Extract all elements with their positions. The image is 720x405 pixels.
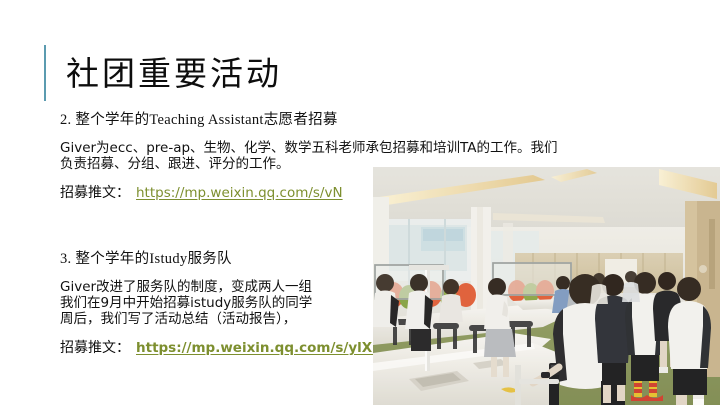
page-title: 社团重要活动 xyxy=(66,57,282,90)
section-3-link-url[interactable]: https://mp.weixin.qq.com/s/ylXlo xyxy=(136,340,386,356)
title-accent-bar xyxy=(44,45,46,101)
cafeteria-photo-graphic xyxy=(373,167,720,405)
cafeteria-photo xyxy=(373,167,720,405)
section-2-heading: 2. 整个学年的Teaching Assistant志愿者招募 xyxy=(60,108,668,129)
slide-title-block: 社团重要活动 xyxy=(44,45,282,101)
section-2-link-url[interactable]: https://mp.weixin.qq.com/s/vN xyxy=(136,185,343,201)
section-2-link-label: 招募推文： xyxy=(60,186,130,201)
section-3-link-label: 招募推文： xyxy=(60,341,130,356)
section-2-paragraph-line-1: Giver为ecc、pre-ap、生物、化学、数学五科老师承包招募和培训TA的工… xyxy=(60,140,668,156)
slide: 社团重要活动 2. 整个学年的Teaching Assistant志愿者招募 G… xyxy=(0,0,720,405)
